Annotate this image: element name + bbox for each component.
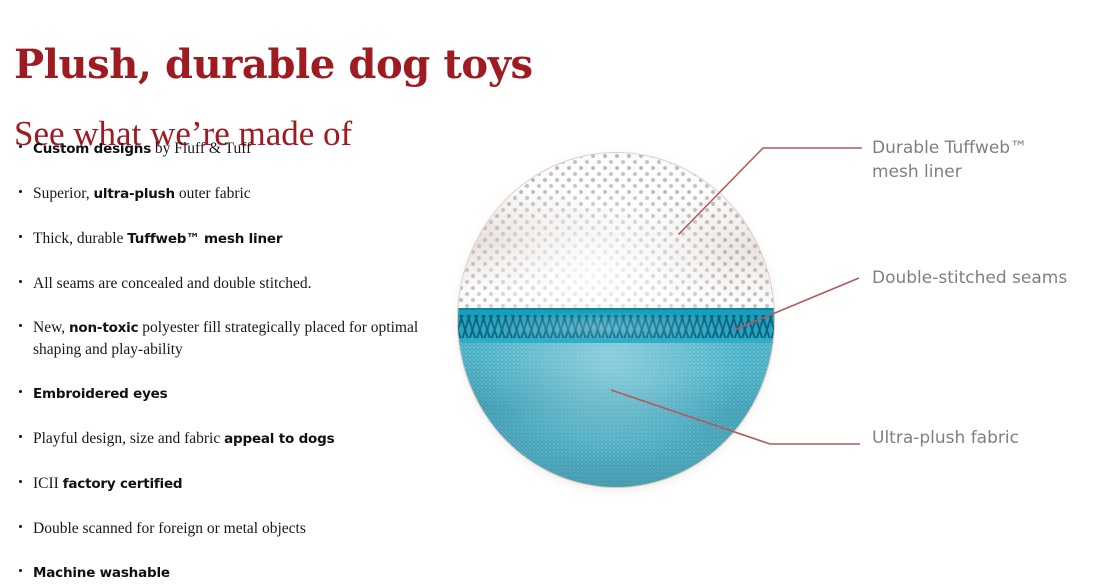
bullet-icon [19, 235, 22, 238]
bullet-icon [19, 480, 22, 483]
feature-text: Superior, [33, 185, 94, 202]
feature-text-emphasis: Tuffweb™ mesh liner [127, 231, 282, 247]
feature-text-emphasis: Custom designs [33, 141, 151, 157]
feature-item-icii-factory-certified: ICII factory certified [14, 473, 464, 495]
bullet-icon [19, 145, 22, 148]
feature-text-emphasis: appeal to dogs [224, 431, 334, 447]
product-illustration: Durable Tuffweb™ mesh liner Double-stitc… [430, 120, 1095, 520]
content-column: Plush, durable dog toys See what we’re m… [0, 0, 470, 574]
feature-text: outer fabric [175, 185, 251, 202]
feature-item-double-scanned: Double scanned for foreign or metal obje… [14, 518, 464, 539]
feature-item-custom-designs: Custom designs by Fluff & Tuff [14, 138, 464, 160]
bullet-icon [19, 190, 22, 193]
feature-text: Thick, durable [33, 230, 127, 247]
feature-text: Playful design, size and fabric [33, 430, 224, 447]
leader-line-mesh-liner [679, 148, 863, 235]
bullet-icon [19, 324, 22, 327]
feature-text: ICII [33, 475, 63, 492]
feature-item-embroidered-eyes: Embroidered eyes [14, 383, 464, 405]
feature-item-ultra-plush-outer-fabric: Superior, ultra-plush outer fabric [14, 183, 464, 205]
bullet-icon [19, 569, 22, 572]
feature-text-emphasis: factory certified [63, 476, 183, 492]
feature-text-emphasis: Machine washable [33, 565, 170, 581]
feature-item-non-toxic-polyester-fill: New, non-toxic polyester fill strategica… [14, 317, 464, 360]
feature-text: by Fluff & Tuff [151, 140, 251, 157]
callout-label-ultra-plush-fabric: Ultra-plush fabric [872, 426, 1019, 450]
feature-item-machine-washable: Machine washable [14, 562, 464, 584]
bullet-icon [19, 390, 22, 393]
feature-item-tuffweb-mesh-liner: Thick, durable Tuffweb™ mesh liner [14, 228, 464, 250]
bullet-icon [19, 525, 22, 528]
bullet-icon [19, 280, 22, 283]
callout-label-durable-tuffweb-mesh-liner: Durable Tuffweb™ mesh liner [872, 136, 1027, 184]
feature-text: All seams are concealed and double stitc… [33, 275, 311, 292]
feature-text: New, [33, 319, 69, 336]
feature-text: Double scanned for foreign or metal obje… [33, 520, 306, 537]
feature-list: Custom designs by Fluff & TuffSuperior, … [14, 138, 464, 584]
leader-line-double-stitched-seams [733, 278, 859, 331]
feature-item-concealed-double-stitched-seams: All seams are concealed and double stitc… [14, 273, 464, 294]
feature-text-emphasis: ultra-plush [94, 186, 175, 202]
callout-label-double-stitched-seams: Double-stitched seams [872, 266, 1067, 290]
feature-item-appeal-to-dogs: Playful design, size and fabric appeal t… [14, 428, 464, 450]
feature-text-emphasis: non-toxic [69, 320, 138, 336]
page-title: Plush, durable dog toys [14, 42, 533, 88]
bullet-icon [19, 435, 22, 438]
leader-line-ultra-plush-fabric [611, 390, 860, 444]
feature-text-emphasis: Embroidered eyes [33, 386, 167, 402]
